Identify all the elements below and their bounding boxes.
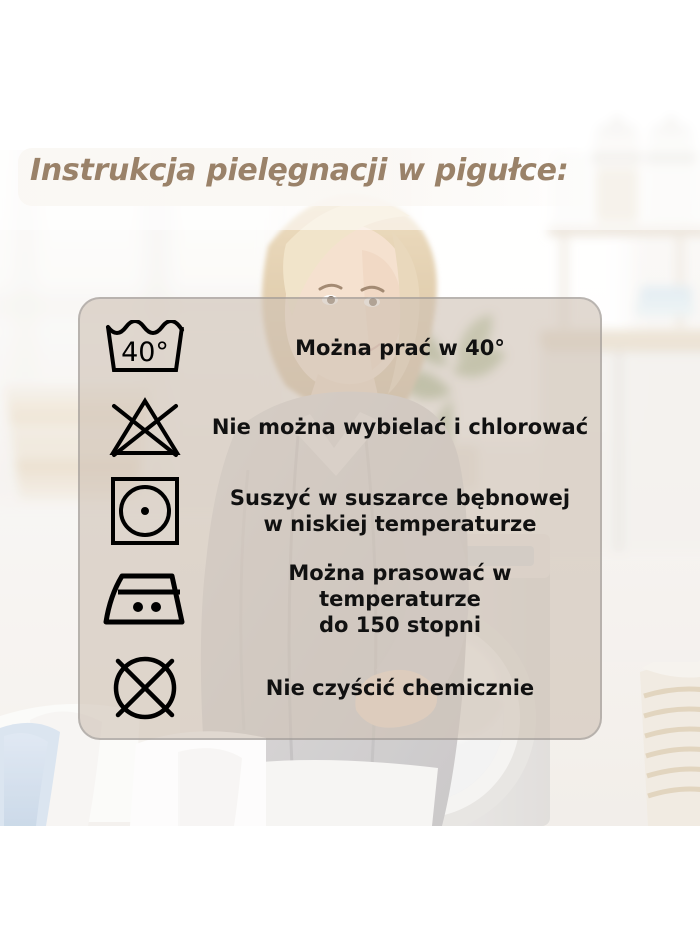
care-row: Nie można wybielać i chlorować: [80, 387, 604, 467]
care-row: Można prasować w temperaturze do 150 sto…: [80, 555, 604, 643]
care-label-line1: Można prać w 40°: [295, 336, 505, 360]
care-row: 40° Można prać w 40°: [80, 309, 604, 387]
care-label: Można prasować w temperaturze do 150 sto…: [210, 560, 604, 638]
care-instructions-card: 40° Można prać w 40° Nie można wybielać …: [78, 297, 602, 740]
page-title: Instrukcja pielęgnacji w pigułce:: [30, 153, 630, 188]
care-label-line1: Nie czyścić chemicznie: [266, 676, 534, 700]
care-label: Nie można wybielać i chlorować: [210, 414, 604, 440]
iron-two-dots-icon: [102, 570, 188, 628]
care-label-line2: w niskiej temperaturze: [210, 511, 590, 537]
do-not-bleach-icon: [109, 396, 181, 458]
care-label-line1: Suszyć w suszarce bębnowej: [230, 486, 570, 510]
do-not-bleach-icon-cell: [80, 396, 210, 458]
do-not-dry-clean-icon-cell: [80, 653, 210, 723]
care-label: Suszyć w suszarce bębnowej w niskiej tem…: [210, 485, 604, 537]
wash-tub-40-icon-cell: 40°: [80, 320, 210, 376]
care-label-line1: Można prasować w temperaturze: [288, 561, 511, 611]
care-row: Nie czyścić chemicznie: [80, 643, 604, 733]
care-row: Suszyć w suszarce bębnowej w niskiej tem…: [80, 467, 604, 555]
care-label: Można prać w 40°: [210, 335, 604, 361]
tumble-dry-low-icon: [109, 475, 181, 547]
care-label-line1: Nie można wybielać i chlorować: [212, 415, 588, 439]
care-instructions-infographic: Instrukcja pielęgnacji w pigułce: 40° Mo…: [0, 0, 700, 945]
wash-tub-40-icon: 40°: [104, 320, 186, 376]
iron-two-dots-icon-cell: [80, 570, 210, 628]
wash-temperature-value: 40°: [121, 337, 169, 368]
tumble-dry-low-icon-cell: [80, 475, 210, 547]
care-label-line2: do 150 stopni: [210, 612, 590, 638]
do-not-dry-clean-icon: [110, 653, 180, 723]
care-label: Nie czyścić chemicznie: [210, 675, 604, 701]
